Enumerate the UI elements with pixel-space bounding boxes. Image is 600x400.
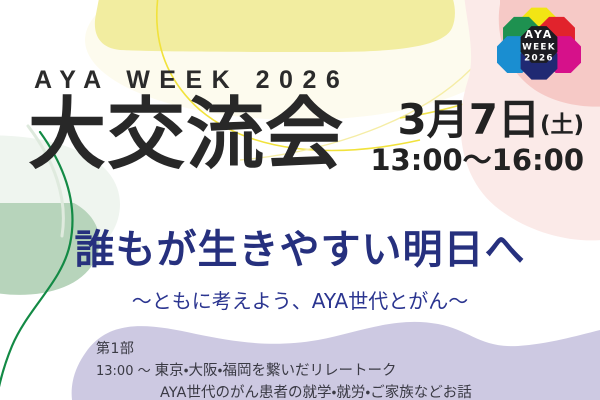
program-detail-line: AYA世代のがん患者の就学・就労・ご家族などお話	[96, 382, 472, 400]
program-row-description: 東京・大阪・福岡を繋いだリレートーク	[155, 360, 397, 382]
event-date-line: 3月7日(土)	[370, 98, 584, 142]
event-time-range: 13:00〜16:00	[370, 142, 584, 178]
event-day-of-week: (土)	[540, 112, 584, 138]
program-row: 13:00 〜 東京・大阪・福岡を繋いだリレートーク	[96, 360, 472, 382]
logo-line-2: WEEK	[522, 43, 556, 53]
message-subhead: 〜ともに考えよう、AYA世代とがん〜	[0, 285, 600, 314]
aya-week-logo: AYA WEEK 2026	[497, 6, 581, 88]
event-date-block: 3月7日(土) 13:00〜16:00	[370, 98, 584, 178]
logo-line-3: 2026	[524, 53, 554, 63]
event-date: 3月7日	[398, 95, 540, 144]
logo-wordmark: AYA WEEK 2026	[522, 28, 556, 64]
page-title: 大交流会	[28, 96, 344, 174]
program-section: 第1部 13:00 〜 東京・大阪・福岡を繋いだリレートーク AYA世代のがん患…	[96, 339, 472, 400]
message-headline: 誰もが生きやすい明日へ	[0, 228, 600, 273]
logo-line-1: AYA	[525, 28, 554, 41]
poster-root: AYA WEEK 2026 大交流会 3月7日(土) 13:00〜16:00 誰…	[0, 0, 600, 400]
program-row-time: 13:00 〜	[96, 362, 151, 382]
program-part-label: 第1部	[96, 339, 472, 360]
yellow-blob-shape	[95, 0, 455, 52]
